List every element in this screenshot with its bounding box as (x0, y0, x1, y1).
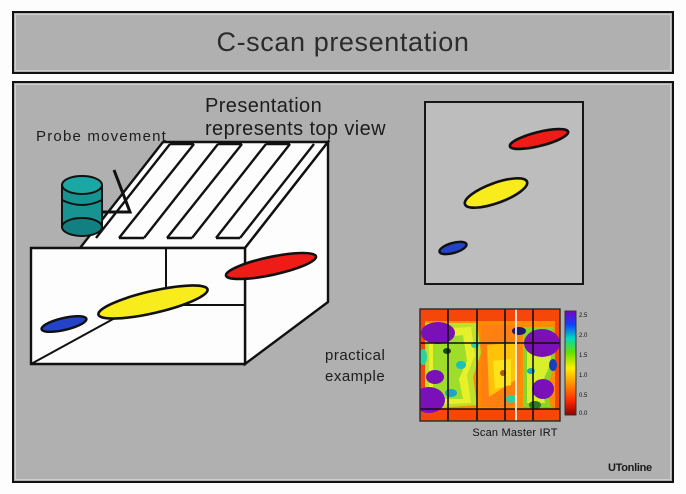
svg-text:2.5: 2.5 (579, 313, 588, 319)
thermogram-plot: 2.5 2.0 1.5 1.0 0.5 0.0 (415, 305, 605, 430)
thermogram-field (415, 309, 560, 421)
svg-text:0.0: 0.0 (579, 411, 588, 417)
thermogram-colorbar (565, 311, 576, 415)
presentation-note-line1: Presentation (205, 95, 386, 118)
watermark-label: UTonline (608, 462, 652, 474)
red-defect (508, 125, 570, 153)
slide-canvas: C-scan presentation Probe movement Prese… (0, 0, 686, 494)
thermogram-colorbar-ticks: 2.5 2.0 1.5 1.0 0.5 0.0 (579, 313, 588, 417)
c-scan-topview-panel (424, 101, 584, 285)
svg-text:0.5: 0.5 (579, 393, 588, 399)
svg-text:1.5: 1.5 (579, 353, 588, 359)
svg-text:1.0: 1.0 (579, 373, 588, 379)
yellow-defect (462, 172, 531, 213)
svg-text:2.0: 2.0 (579, 333, 588, 339)
thermogram-image: 2.5 2.0 1.5 1.0 0.5 0.0 Scan Master IRT (415, 305, 605, 445)
specimen-block-diagram (18, 130, 348, 380)
c-scan-topview-plot (426, 103, 582, 283)
title-panel: C-scan presentation (12, 11, 674, 74)
blue-defect (438, 239, 468, 256)
thermogram-caption: Scan Master IRT (445, 427, 585, 439)
probe-cylinder (62, 176, 102, 236)
page-title: C-scan presentation (14, 13, 672, 72)
